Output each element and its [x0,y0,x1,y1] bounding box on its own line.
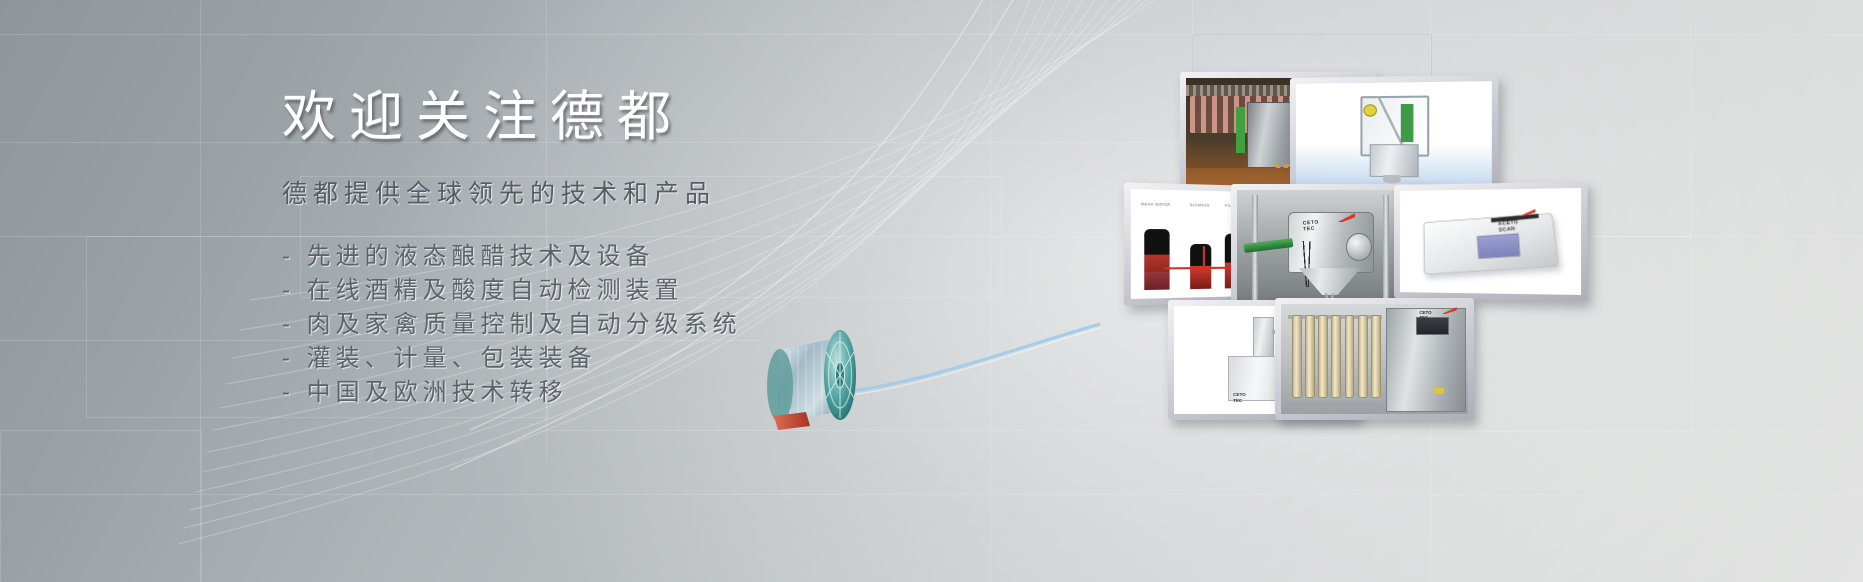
flow-label: BIOMASS [1190,203,1210,208]
panel-aceto-scan-analyser[interactable]: ACETOSCAN [1394,182,1588,302]
brand-mark-ceto-tec: CETOTEC [1419,310,1431,320]
list-item: - 先进的液态酿醋技术及设备 [282,240,902,274]
spool-graphic [752,328,872,433]
page-subtitle: 德都提供全球领先的技术和产品 [282,174,902,210]
photo-packaging-machine [1296,81,1492,194]
panel-packaging-machine[interactable] [1290,75,1498,201]
brand-mark-ceto-tec: CETOTEC [1302,219,1319,232]
flow-label: MASH WATER [1141,202,1171,207]
product-image-collage: MASH WATER BIOMASS FILTRATION STORAGE TA… [1020,50,1863,420]
photo-aceto-scan-analyser: ACETOSCAN [1400,188,1581,295]
brand-mark-ceto-tec: CETOTEC [1233,392,1246,403]
promo-banner: 欢迎关注德都 德都提供全球领先的技术和产品 - 先进的液态酿醋技术及设备 - 在… [0,0,1863,582]
page-title: 欢迎关注德都 [282,86,902,148]
brand-mark-aceto-scan: ACETOSCAN [1498,220,1519,234]
list-item: - 在线酒精及酸度自动检测装置 [282,274,902,308]
panel-membrane-filtration[interactable]: CETOTEC [1275,298,1474,420]
photo-membrane-filtration: CETOTEC [1281,304,1468,414]
